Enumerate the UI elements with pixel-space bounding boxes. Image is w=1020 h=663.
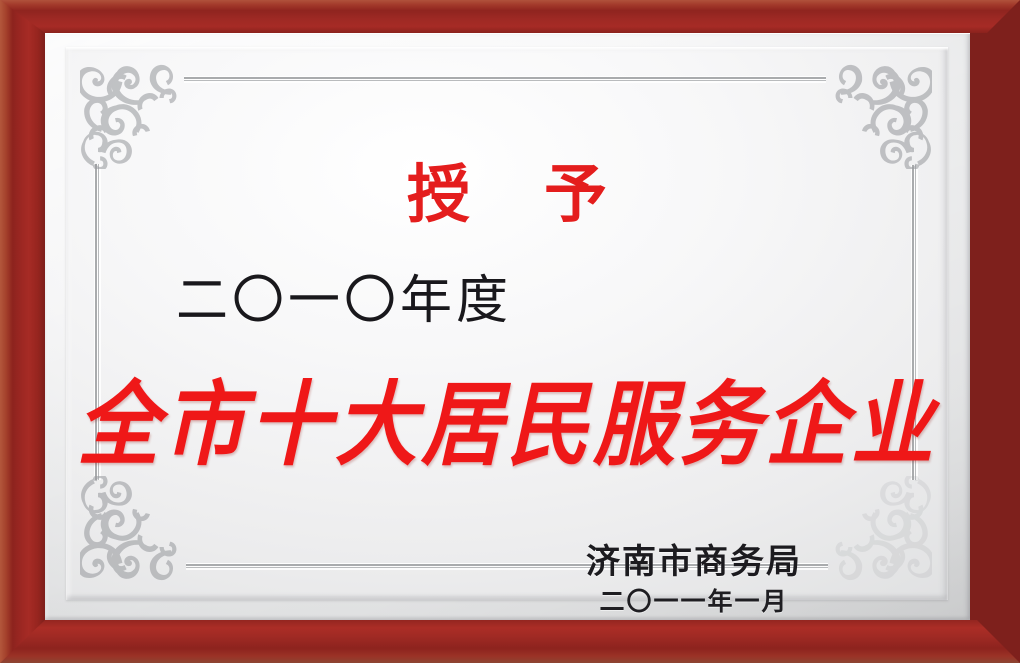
frame-top-rail xyxy=(0,0,1020,33)
frame-left-stile xyxy=(0,0,45,663)
frame-bottom-rail xyxy=(0,620,1020,663)
award-plaque: 授 予 二〇一〇年度 全市十大居民服务企业 济南市商务局 二〇一一年一月 xyxy=(0,0,1020,663)
award-title-text: 全市十大居民服务企业 xyxy=(66,379,948,473)
issuer-block: 济南市商务局 二〇一一年一月 xyxy=(586,543,802,616)
certificate-panel: 授 予 二〇一〇年度 全市十大居民服务企业 济南市商务局 二〇一一年一月 xyxy=(66,47,948,600)
award-verb-text: 授 予 xyxy=(66,163,948,226)
award-year-text: 二〇一〇年度 xyxy=(176,275,512,327)
issuer-name: 济南市商务局 xyxy=(586,543,802,581)
issue-date: 二〇一一年一月 xyxy=(586,588,802,616)
plaque-mat: 授 予 二〇一〇年度 全市十大居民服务企业 济南市商务局 二〇一一年一月 xyxy=(45,33,970,620)
certificate-content: 授 予 二〇一〇年度 全市十大居民服务企业 济南市商务局 二〇一一年一月 xyxy=(66,47,948,600)
